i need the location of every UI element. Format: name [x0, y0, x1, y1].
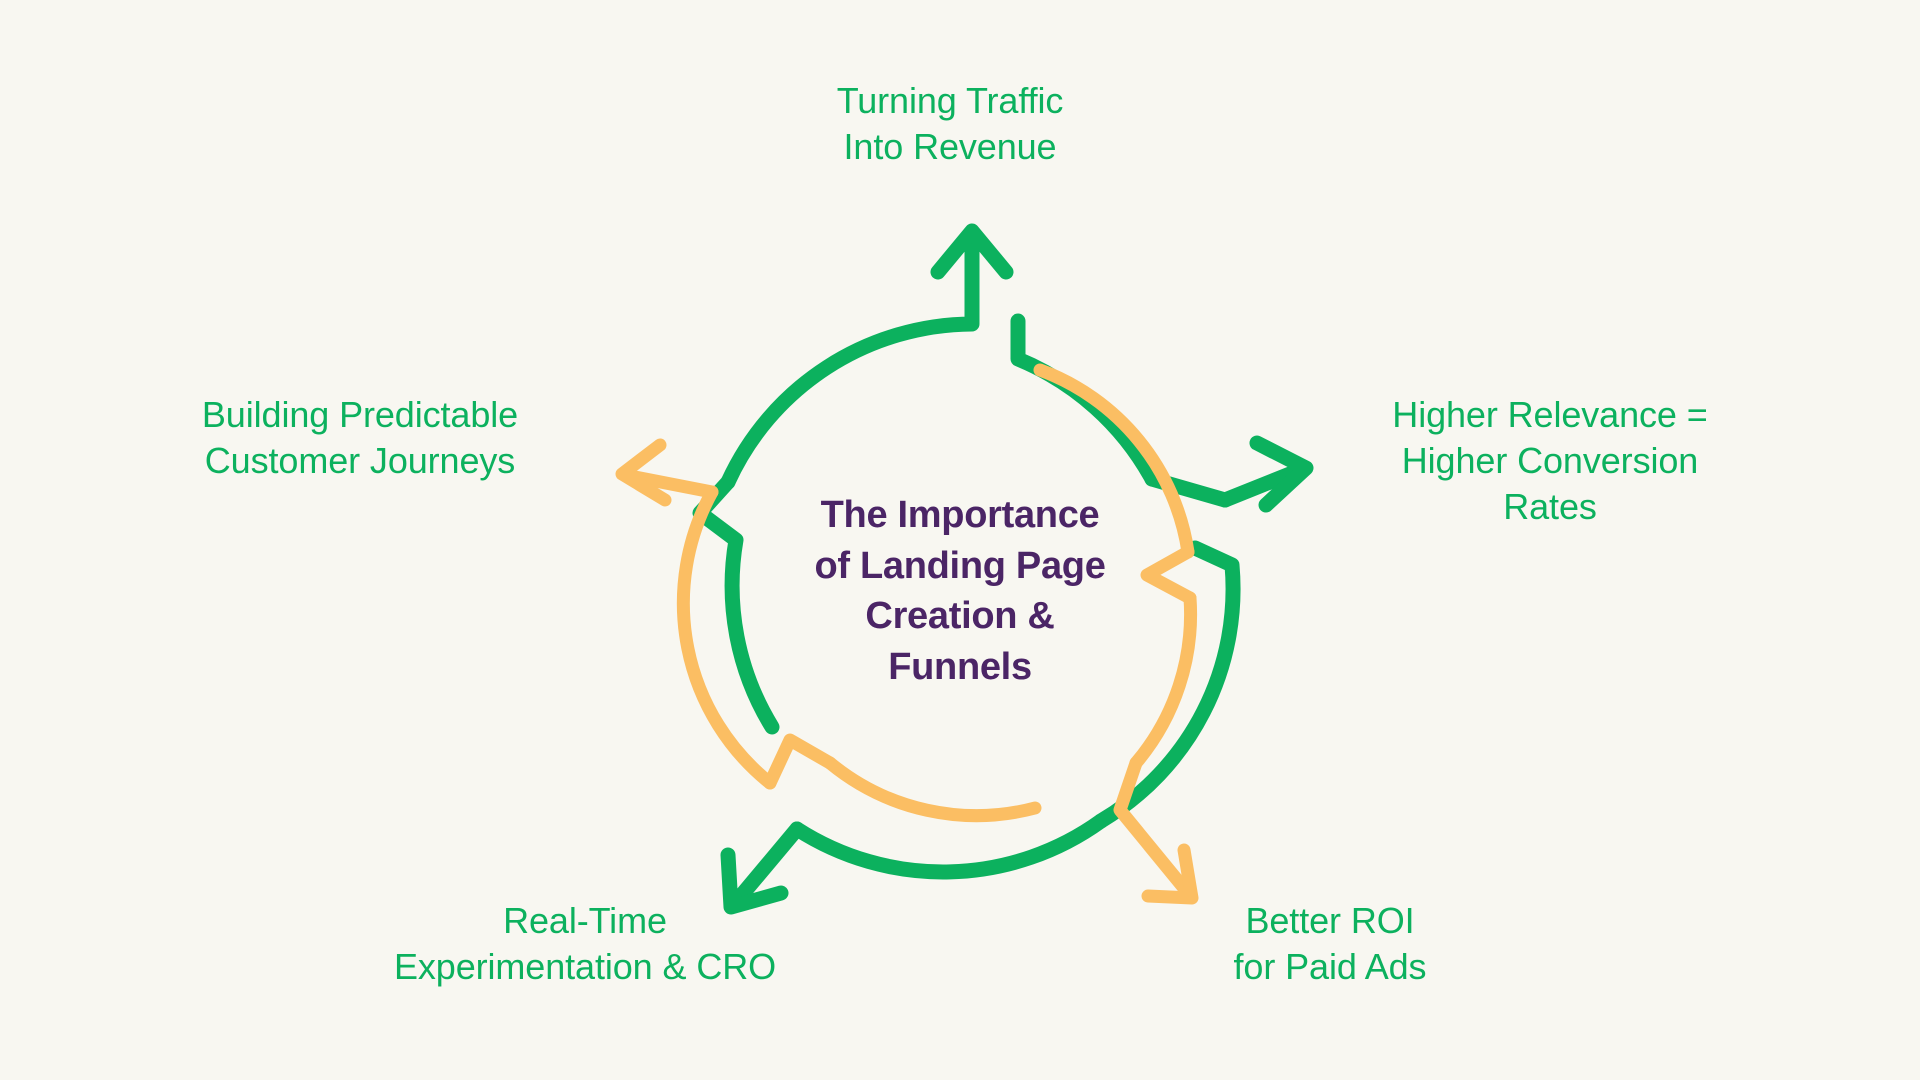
- orange-arc-bottom: [830, 763, 1035, 816]
- node-label-building-predictable-journeys: Building Predictable Customer Journeys: [140, 392, 580, 484]
- green-arc-bottom: [797, 821, 1101, 872]
- diagram-center-title: The Importance of Landing Page Creation …: [740, 490, 1180, 692]
- node-label-better-roi: Better ROI for Paid Ads: [1160, 898, 1500, 990]
- node-label-higher-relevance: Higher Relevance = Higher Conversion Rat…: [1330, 392, 1770, 530]
- node-label-real-time-experimentation: Real-Time Experimentation & CRO: [330, 898, 840, 990]
- diagram-canvas: Turning Traffic Into Revenue Higher Rele…: [0, 0, 1920, 1080]
- orange-arc-bottomleft-step: [770, 740, 830, 783]
- node-label-turning-traffic: Turning Traffic Into Revenue: [720, 78, 1180, 170]
